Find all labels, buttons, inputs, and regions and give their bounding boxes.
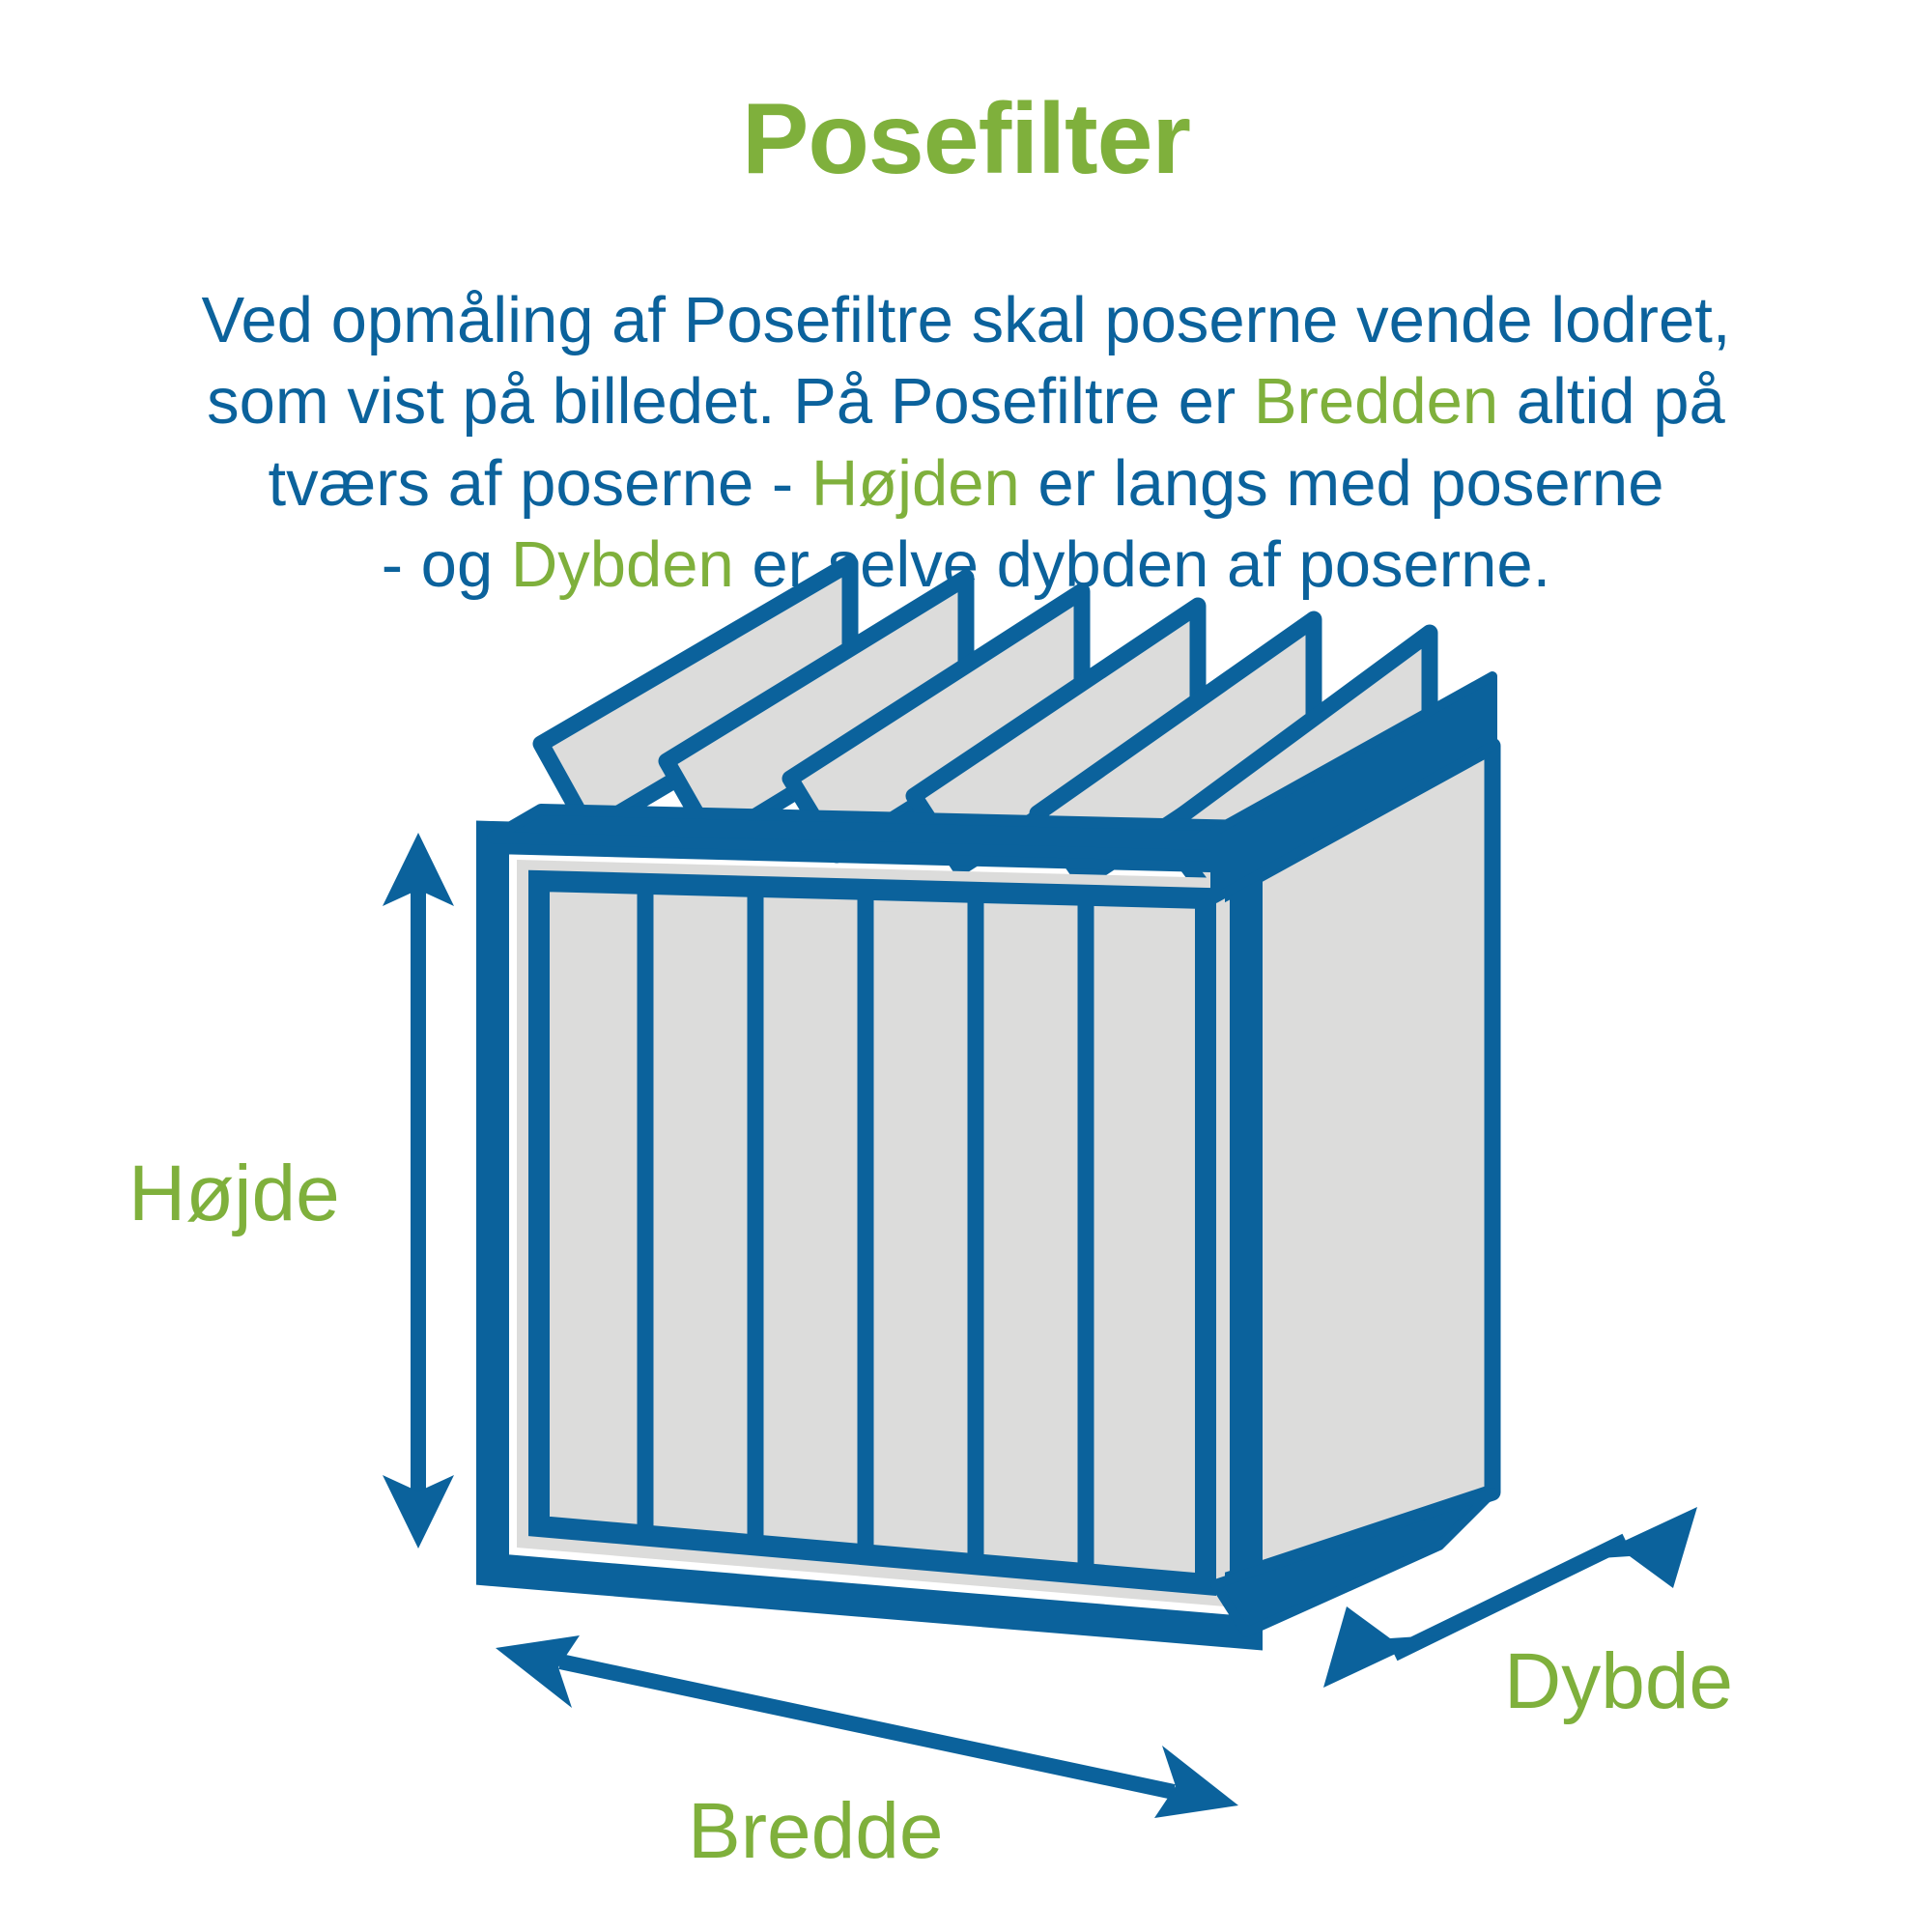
dimension-label-depth: Dybde <box>1504 1642 1733 1721</box>
dimension-label-width: Bredde <box>688 1792 943 1871</box>
height-arrow <box>383 833 454 1548</box>
width-arrow-head-right <box>1154 1746 1238 1818</box>
width-arrow-head-left <box>496 1635 580 1708</box>
dimension-label-height: Højde <box>128 1154 340 1234</box>
page-root: Posefilter Ved opmåling af Posefiltre sk… <box>0 0 1932 1932</box>
width-arrow-shaft <box>560 1662 1174 1792</box>
